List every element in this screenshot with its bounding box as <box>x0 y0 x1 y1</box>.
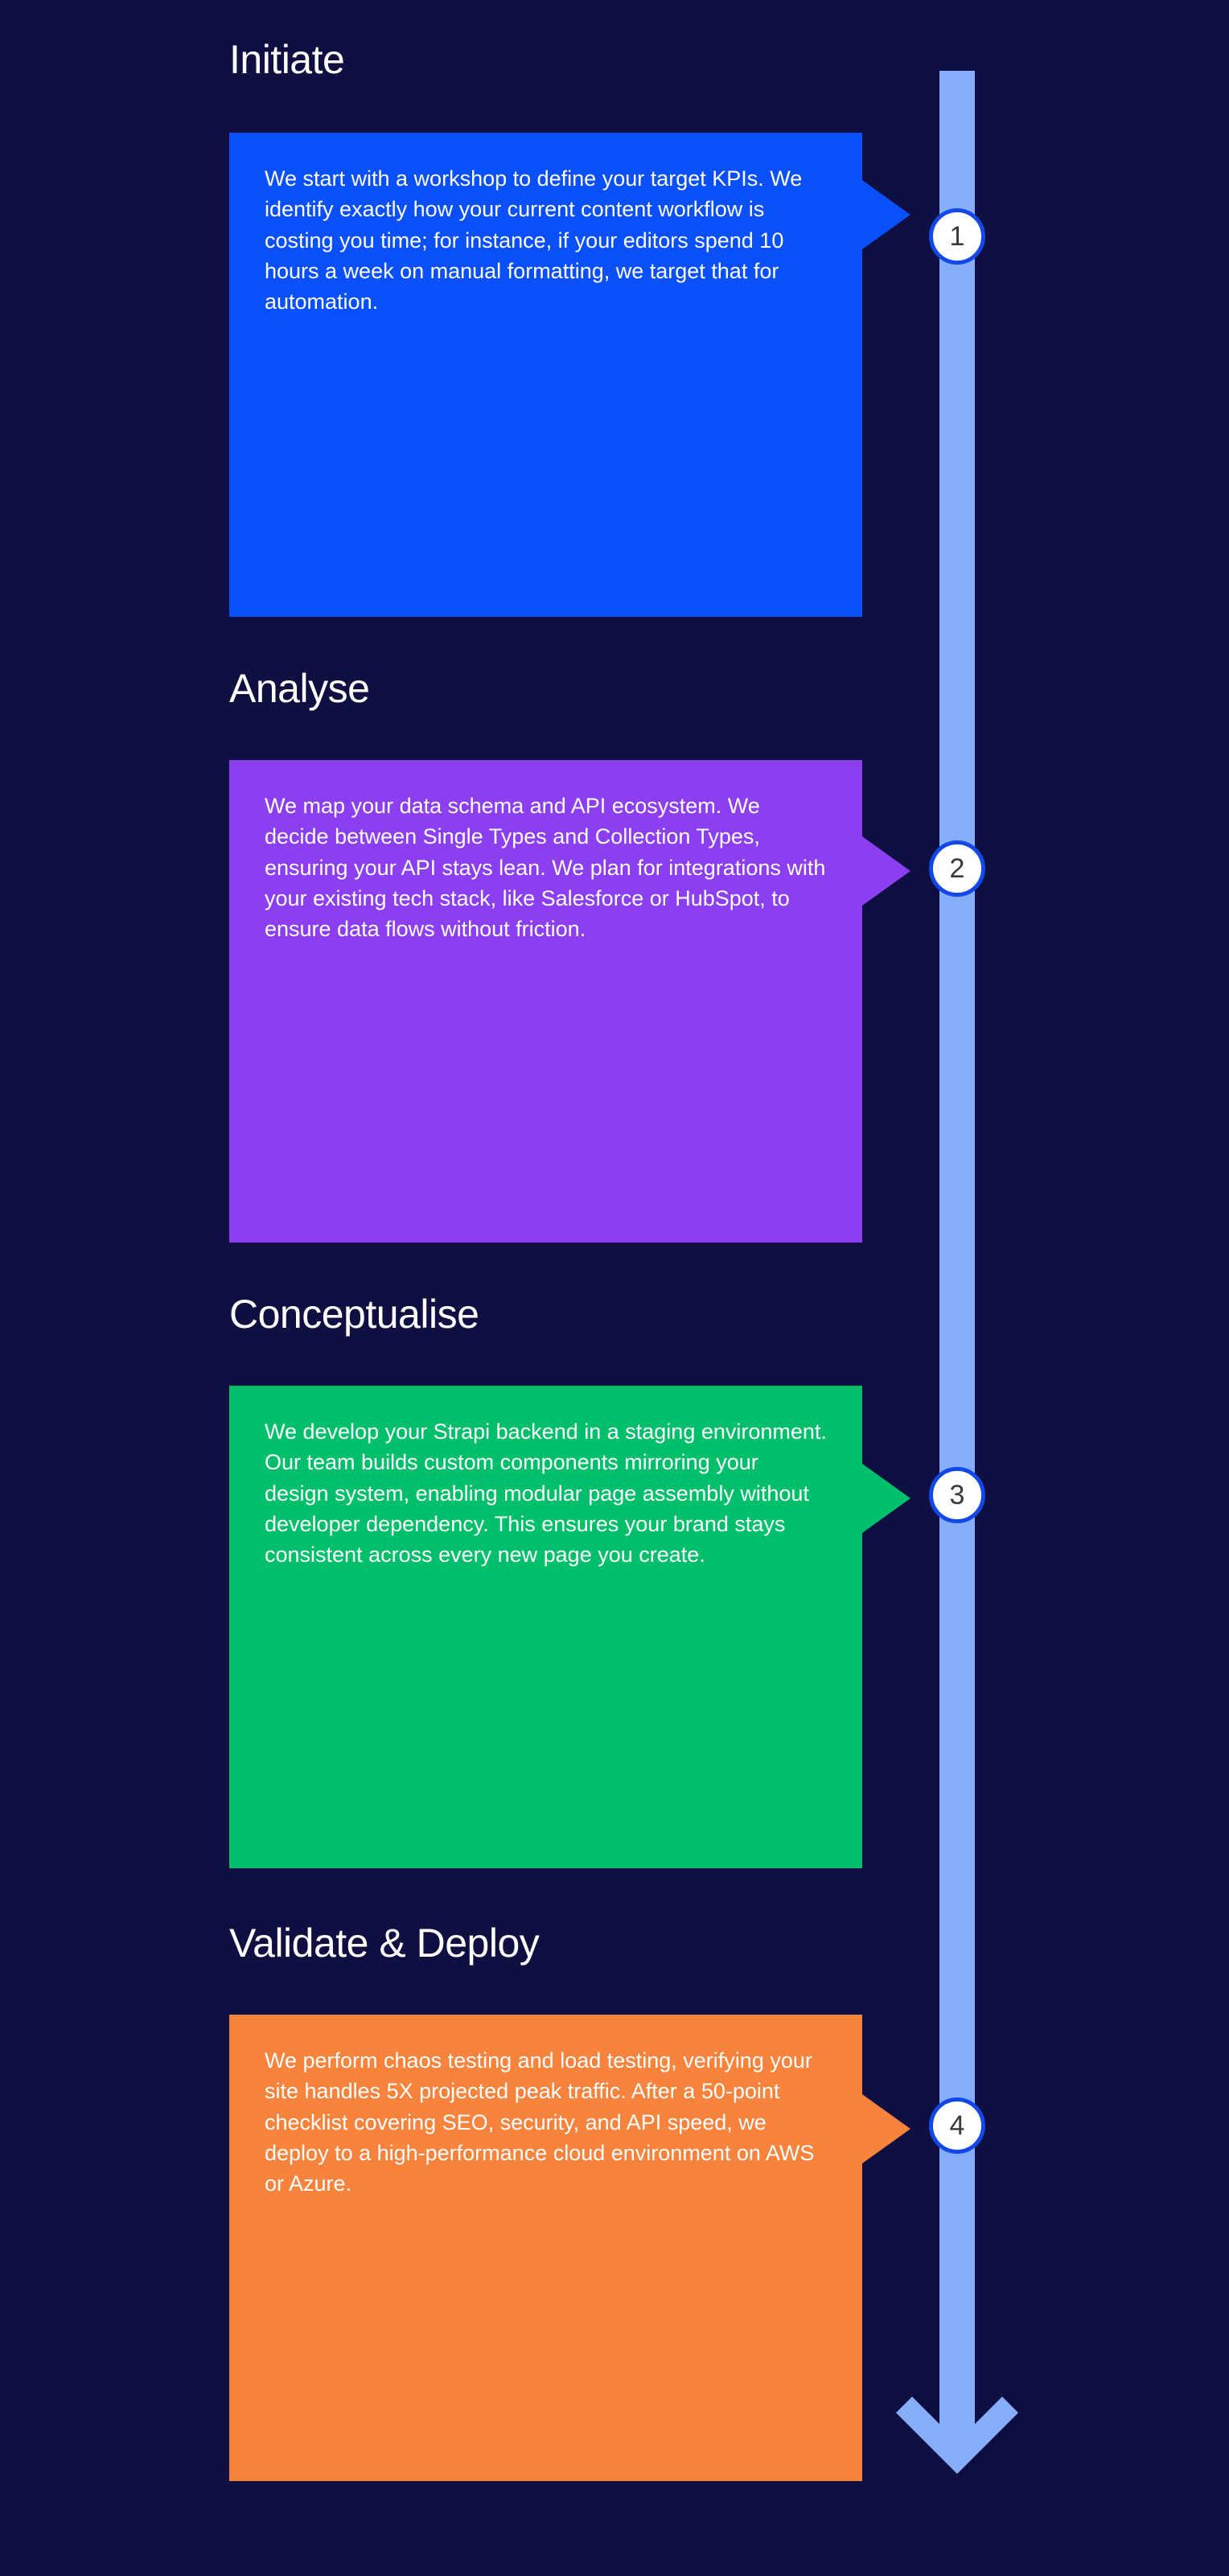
arrow-down-icon <box>893 2382 1021 2479</box>
step-marker-1[interactable]: 1 <box>929 208 985 265</box>
step-card-4: We perform chaos testing and load testin… <box>229 2015 862 2481</box>
step-heading-2: Analyse <box>229 668 369 710</box>
step-body-1: We start with a workshop to define your … <box>265 163 827 318</box>
step-marker-4[interactable]: 4 <box>929 2097 985 2154</box>
step-card-2: We map your data schema and API ecosyste… <box>229 760 862 1243</box>
step-heading-3: Conceptualise <box>229 1293 479 1336</box>
step-pointer-3 <box>862 1464 910 1533</box>
step-number-2: 2 <box>950 855 965 882</box>
process-timeline-canvas: Initiate We start with a workshop to def… <box>0 0 1229 2576</box>
step-marker-3[interactable]: 3 <box>929 1467 985 1523</box>
step-number-3: 3 <box>950 1481 965 1509</box>
step-pointer-2 <box>862 836 910 906</box>
step-card-1: We start with a workshop to define your … <box>229 133 862 617</box>
step-pointer-4 <box>862 2094 910 2163</box>
step-pointer-1 <box>862 180 910 249</box>
step-body-3: We develop your Strapi backend in a stag… <box>265 1416 827 1571</box>
step-body-2: We map your data schema and API ecosyste… <box>265 791 827 945</box>
step-marker-2[interactable]: 2 <box>929 840 985 897</box>
step-heading-4: Validate & Deploy <box>229 1922 539 1965</box>
step-heading-1: Initiate <box>229 39 344 81</box>
step-number-1: 1 <box>950 223 965 250</box>
timeline-rail <box>939 71 975 2453</box>
step-number-4: 4 <box>950 2112 965 2139</box>
step-body-4: We perform chaos testing and load testin… <box>265 2045 827 2200</box>
step-card-3: We develop your Strapi backend in a stag… <box>229 1386 862 1868</box>
